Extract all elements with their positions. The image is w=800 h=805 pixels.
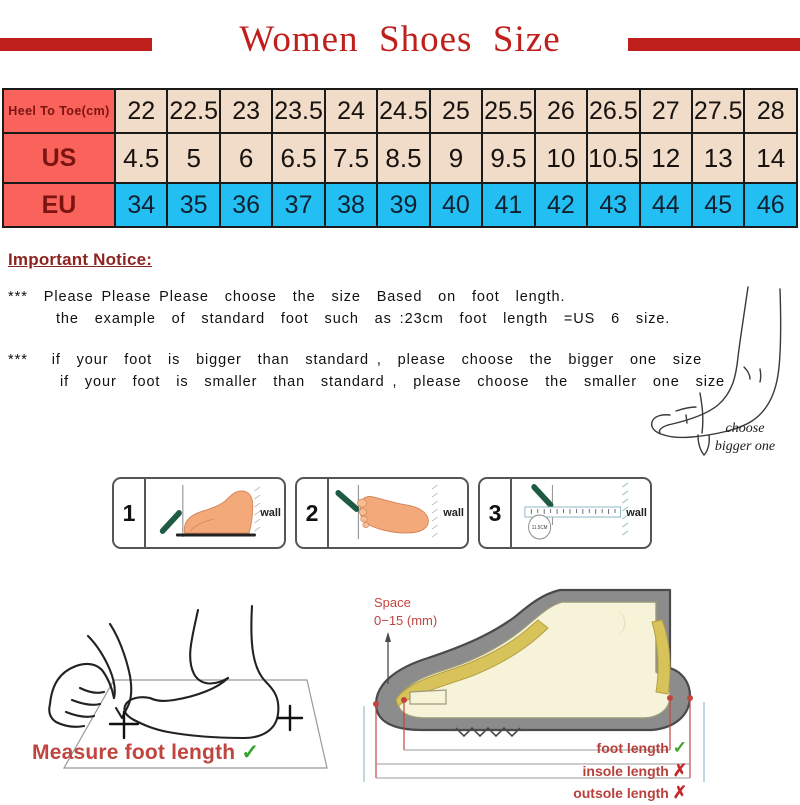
row-label-eu: EU [3,183,115,227]
notice-line: if your foot is smaller than standard , … [8,371,708,393]
cell-cm: 24 [325,89,377,133]
cell-eu: 43 [587,183,639,227]
bullet-stars: *** [8,289,28,305]
table-row-us: US 4.5 5 6 6.5 7.5 8.5 9 9.5 10 10.5 12 … [3,133,797,183]
cell-eu: 37 [272,183,324,227]
bullet-stars: *** [8,352,28,368]
row-label-heel-to-toe: Heel To Toe(cm) [3,89,115,133]
cell-us: 14 [744,133,797,183]
cell-eu: 34 [115,183,167,227]
measurement-row: foot length ✓ [472,737,687,760]
check-icon: ✓ [673,738,687,757]
cell-cm: 26 [535,89,587,133]
check-icon: ✓ [241,741,259,764]
shoe-cross-section-diagram: Space 0−15 (mm) foot length ✓ insole len… [352,572,800,800]
cell-us: 12 [640,133,692,183]
row-label-us: US [3,133,115,183]
step-number: 1 [114,479,146,547]
size-chart-table: Heel To Toe(cm) 22 22.5 23 23.5 24 24.5 … [2,88,798,228]
step-panel-2: 2 wall [295,477,469,549]
cell-cm: 27.5 [692,89,744,133]
wall-label: wall [260,507,281,519]
cell-us: 7.5 [325,133,377,183]
cell-cm: 24.5 [377,89,429,133]
cell-eu: 42 [535,183,587,227]
cell-us: 4.5 [115,133,167,183]
step-illustration-foot-side: wall [146,479,284,547]
important-notice-section: Important Notice: *** Please Please Plea… [8,250,708,412]
cell-eu: 46 [744,183,797,227]
cell-eu: 35 [167,183,219,227]
notice-block: *** if your foot is bigger than standard… [8,349,708,394]
cell-eu: 36 [220,183,272,227]
wall-label: wall [626,507,647,519]
table-row-eu: EU 34 35 36 37 38 39 40 41 42 43 44 45 4… [3,183,797,227]
notice-line: *** Please Please Please choose the size… [8,286,708,308]
cell-eu: 44 [640,183,692,227]
cell-cm: 22 [115,89,167,133]
cell-eu: 39 [377,183,429,227]
cell-eu: 41 [482,183,534,227]
step-illustration-ruler: 11.5CM wall [512,479,650,547]
title-band: Women Shoes Size [0,18,800,70]
cell-us: 10.5 [587,133,639,183]
measurement-label: foot length [597,740,669,756]
measurement-row: insole length ✗ [472,760,687,783]
cell-eu: 45 [692,183,744,227]
length-labels: foot length ✓ insole length ✗ outsole le… [472,737,772,805]
measurement-row: outsole length ✗ [472,782,687,805]
measurement-label: insole length [583,763,669,779]
cell-cm: 26.5 [587,89,639,133]
measuring-steps: 1 wall 2 [112,477,652,549]
cell-us: 9 [430,133,482,183]
step-panel-3: 3 11.5CM [478,477,652,549]
cell-cm: 25.5 [482,89,534,133]
cell-cm: 28 [744,89,797,133]
table-row-heel-to-toe: Heel To Toe(cm) 22 22.5 23 23.5 24 24.5 … [3,89,797,133]
cell-eu: 38 [325,183,377,227]
ruler-readout: 11.5CM [532,525,548,531]
step-number: 2 [297,479,329,547]
cell-cm: 27 [640,89,692,133]
space-label: Space 0−15 (mm) [374,594,437,629]
notice-line: the example of standard foot such as :23… [8,308,708,330]
cell-us: 6.5 [272,133,324,183]
cross-icon: ✗ [673,783,687,802]
notice-block: *** Please Please Please choose the size… [8,286,708,331]
cell-cm: 23.5 [272,89,324,133]
cell-us: 13 [692,133,744,183]
cell-us: 8.5 [377,133,429,183]
notice-text: Please Please Please choose the size Bas… [44,289,566,305]
cell-us: 5 [167,133,219,183]
notice-text: if your foot is bigger than standard , p… [52,352,702,368]
measure-caption-text: Measure foot length [32,741,235,764]
cell-us: 9.5 [482,133,534,183]
page-title: Women Shoes Size [0,18,800,61]
cell-cm: 23 [220,89,272,133]
cross-icon: ✗ [673,761,687,780]
cell-cm: 22.5 [167,89,219,133]
measure-foot-caption: Measure foot length ✓ [32,740,302,765]
step-panel-1: 1 wall [112,477,286,549]
wall-label: wall [443,507,464,519]
cell-eu: 40 [430,183,482,227]
step-illustration-foot-top: wall [329,479,467,547]
choose-bigger-annotation: choose bigger one [690,420,800,455]
cell-us: 10 [535,133,587,183]
notice-heading: Important Notice: [8,250,708,270]
step-number: 3 [480,479,512,547]
cell-us: 6 [220,133,272,183]
measurement-label: outsole length [573,785,669,801]
cell-cm: 25 [430,89,482,133]
notice-line: *** if your foot is bigger than standard… [8,349,708,371]
